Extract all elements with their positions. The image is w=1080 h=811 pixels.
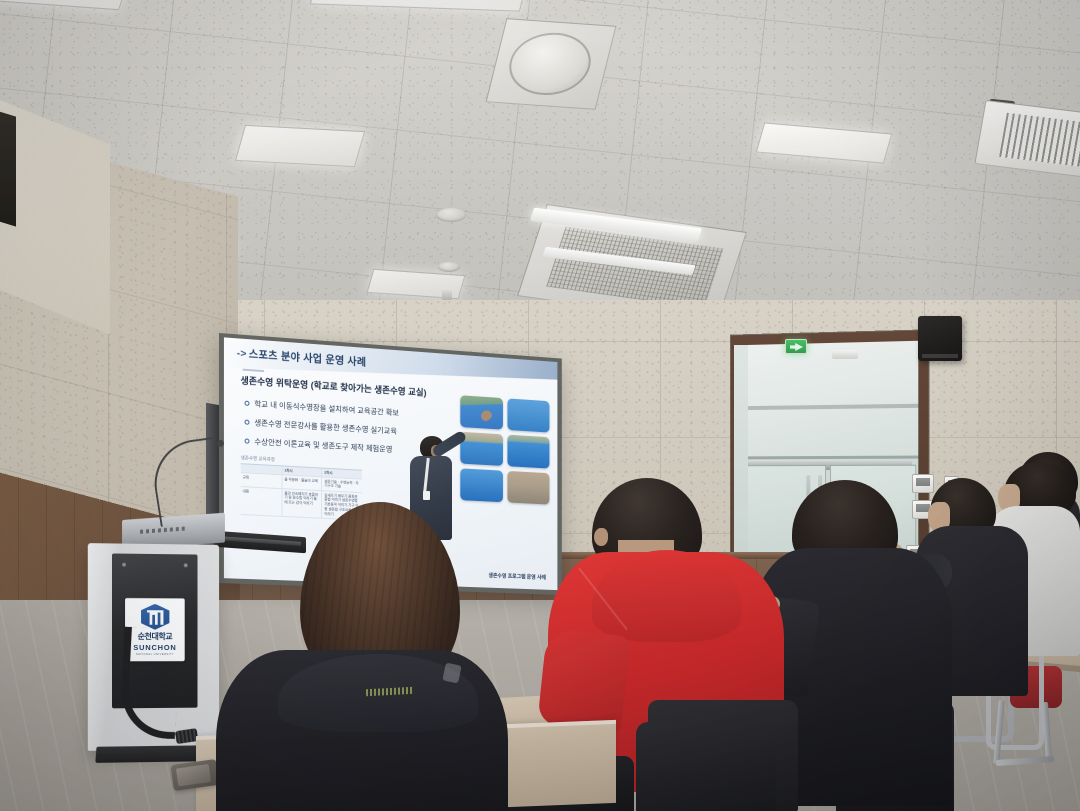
hexagon-shape — [141, 604, 170, 630]
door-transom — [740, 341, 918, 460]
transom-bar — [740, 404, 918, 410]
bullet-dot-icon — [245, 438, 250, 443]
smoke-detector-icon — [438, 262, 460, 272]
hexagon-emblem-icon — [141, 604, 170, 630]
emergency-light — [832, 350, 858, 359]
slide-photo — [507, 435, 549, 469]
wall-speaker-icon — [918, 316, 962, 361]
bullet-text: 수상안전 이론교육 및 생존도구 제작 체험운영 — [254, 436, 392, 455]
seminar-room-photo: ->스포츠 분야 사업 운영 사례 생존수영 위탁운영 (학교로 찾아가는 생존… — [0, 0, 1080, 811]
slide-photo — [507, 471, 549, 505]
projector-vents — [999, 113, 1080, 170]
bullet-text: 학교 내 이동식수영장을 설치하여 교육공간 확보 — [254, 398, 399, 418]
presenter-badge — [423, 491, 430, 500]
chair-black — [636, 722, 776, 811]
slide-title-marker: -> — [237, 347, 247, 360]
bullet-dot-icon — [245, 401, 250, 406]
table-cell: 물 적응화 · 물놀이 교육 — [282, 475, 322, 490]
microphone-head-icon — [217, 440, 224, 447]
podium-control-strip[interactable] — [140, 526, 186, 533]
audience-person-black-puffer — [216, 502, 508, 811]
ceiling-light-panel — [235, 125, 365, 167]
bullet-text: 생존수영 전문강사를 활용한 생존수영 실기교육 — [254, 417, 397, 436]
slide-photo-grid — [460, 395, 549, 504]
exit-sign-icon — [785, 339, 807, 354]
round-ceiling-speaker-icon — [486, 18, 617, 110]
slide-photo — [460, 432, 503, 466]
person-arm — [537, 628, 631, 732]
person-ear — [594, 528, 608, 546]
table-cell: 생존기술 · 수영능력 · 자기구조 기술 — [322, 477, 361, 492]
lectern-podium: 순천대학교 SUNCHON NATIONAL UNIVERSITY — [88, 543, 219, 751]
slide-photo — [460, 468, 503, 502]
table-cell: 교육 — [241, 473, 283, 488]
slide-rule — [243, 369, 264, 372]
bullet-dot-icon — [245, 420, 250, 425]
left-wall-dark-panel — [0, 107, 16, 226]
slide-photo — [507, 398, 549, 432]
